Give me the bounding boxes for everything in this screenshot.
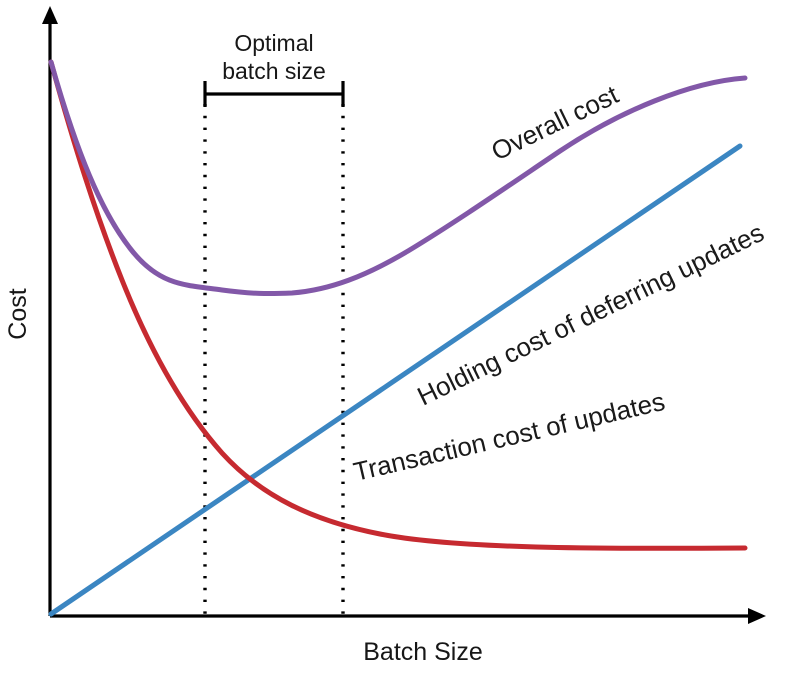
x-axis-title: Batch Size — [363, 638, 483, 666]
series-curves — [51, 62, 745, 614]
axis-titles: Cost Batch Size — [4, 288, 483, 666]
optimal-label-line2: batch size — [222, 58, 326, 84]
optimal-range-guides — [205, 104, 343, 615]
series-labels: Overall cost Holding cost of deferring u… — [351, 79, 769, 487]
optimal-label-line1: Optimal — [234, 30, 313, 56]
y-axis-arrow-icon — [42, 6, 58, 24]
x-axis-arrow-icon — [748, 608, 766, 624]
transaction-cost-label: Transaction cost of updates — [351, 386, 668, 487]
overall-cost-curve — [51, 62, 745, 294]
chart-canvas: Cost Batch Size Optimal batch size Overa… — [0, 0, 809, 675]
optimal-batch-size-bracket — [205, 81, 343, 107]
y-axis-title: Cost — [4, 288, 32, 339]
holding-cost-curve — [51, 146, 740, 614]
cost-vs-batch-size-chart: Cost Batch Size Optimal batch size Overa… — [0, 0, 809, 675]
bracket-annotation-text: Optimal batch size — [222, 30, 326, 84]
